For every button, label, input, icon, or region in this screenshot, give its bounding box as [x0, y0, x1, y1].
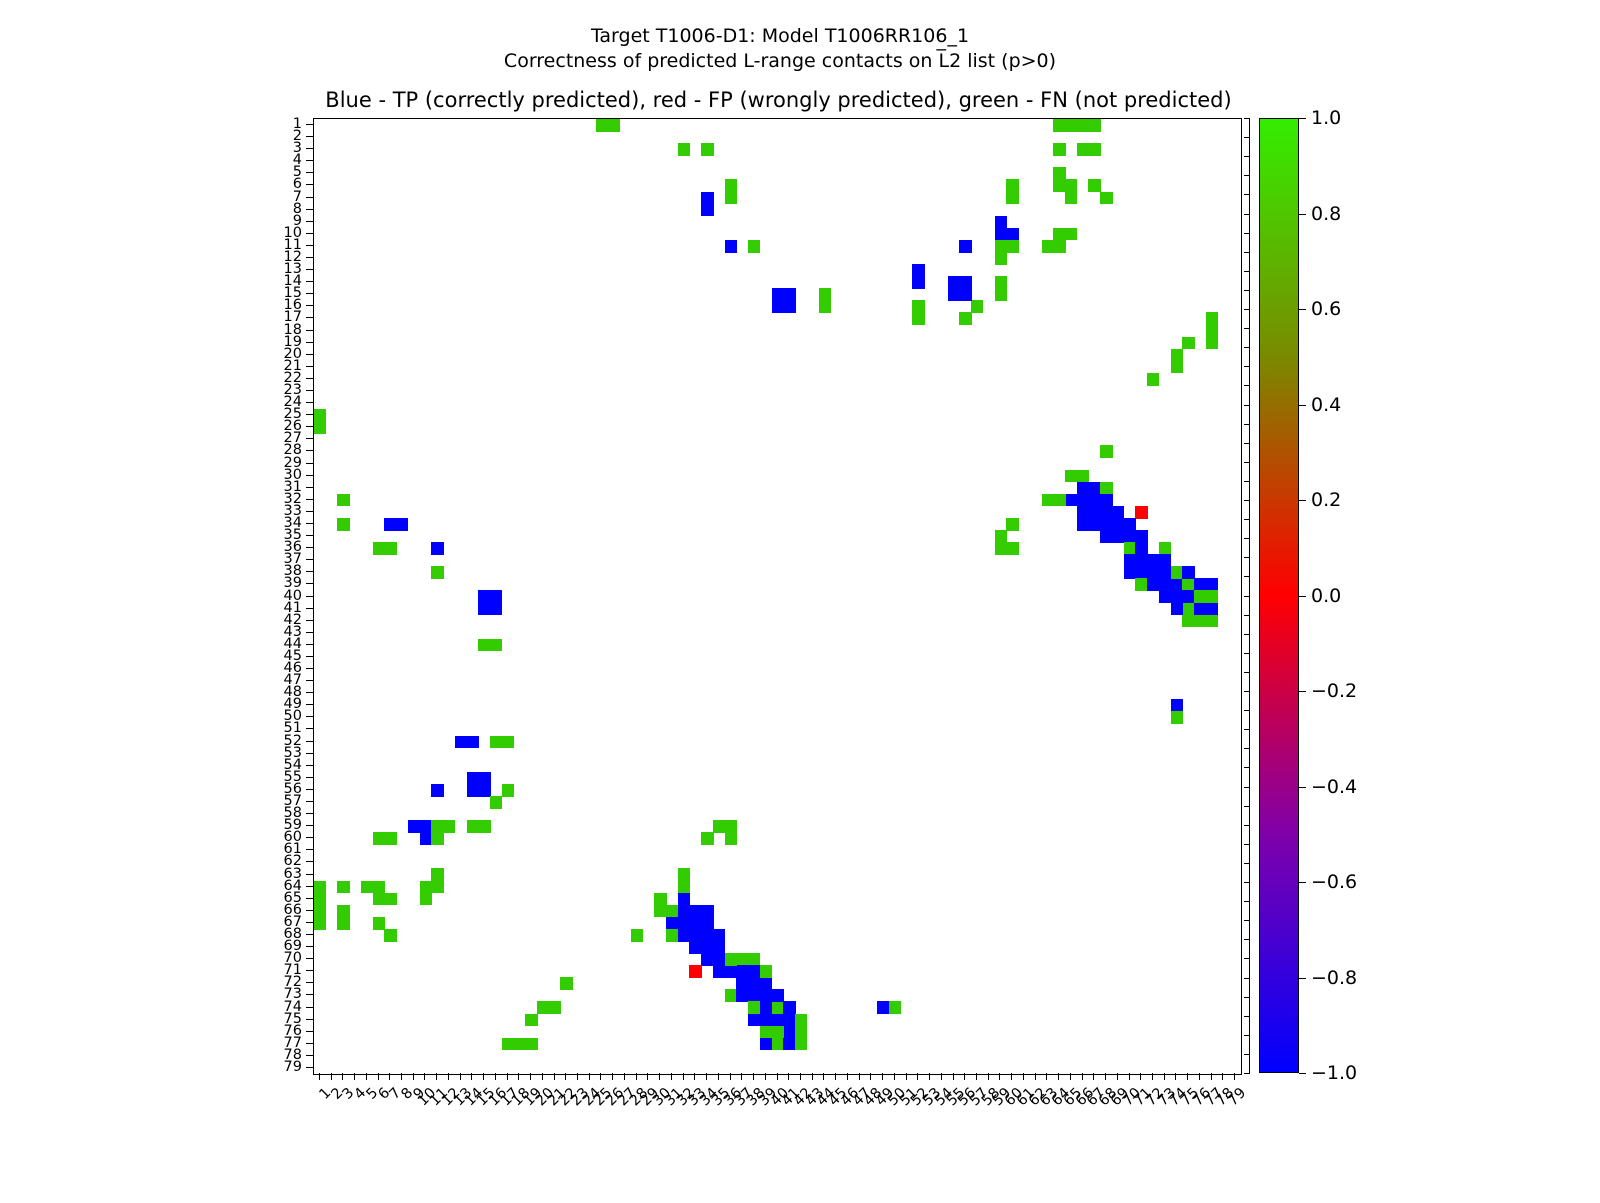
- y-axis-tick: [306, 330, 313, 331]
- heatmap-cell: [795, 1026, 807, 1039]
- y-axis-tick: [306, 596, 313, 597]
- heatmap-cell: [748, 240, 760, 253]
- y-axis-tick: [306, 813, 313, 814]
- colorbar-tick: [1299, 214, 1306, 215]
- heatmap-cell: [1194, 615, 1206, 628]
- heatmap-cell: [1100, 482, 1112, 495]
- x-axis-tick: [917, 1073, 918, 1080]
- colorbar-minor-tick: [1244, 175, 1250, 176]
- heatmap-cell: [631, 929, 643, 942]
- heatmap-cell: [1206, 312, 1218, 325]
- colorbar-tick: [1299, 978, 1306, 979]
- heatmap-cell: [1006, 228, 1018, 241]
- colorbar-tick: [1299, 691, 1306, 692]
- colorbar-tick: [1299, 405, 1306, 406]
- heatmap-cell: [748, 953, 760, 966]
- heatmap-cell: [948, 288, 960, 301]
- heatmap-cell: [314, 409, 326, 422]
- heatmap-cell: [678, 893, 690, 906]
- y-axis-tick: [306, 704, 313, 705]
- colorbar-minor-tick: [1244, 214, 1250, 215]
- y-axis-tick: [306, 390, 313, 391]
- heatmap-cell: [478, 603, 490, 616]
- x-axis-tick: [1187, 1073, 1188, 1080]
- colorbar-tick-label: −0.2: [1311, 680, 1357, 702]
- x-axis-tick: [366, 1073, 367, 1080]
- heatmap-cell: [1065, 228, 1077, 241]
- x-axis-tick: [565, 1073, 566, 1080]
- heatmap-cell: [654, 893, 666, 906]
- heatmap-cell: [995, 240, 1007, 253]
- heatmap-cell: [748, 965, 760, 978]
- heatmap-cell: [1182, 578, 1194, 591]
- x-axis-tick: [389, 1073, 390, 1080]
- heatmap-cell: [701, 929, 713, 942]
- y-axis-tick: [306, 523, 313, 524]
- y-axis-tick: [306, 692, 313, 693]
- heatmap-cell: [689, 929, 701, 942]
- y-axis-tick: [306, 378, 313, 379]
- heatmap-cell: [713, 929, 725, 942]
- x-axis-tick: [1164, 1073, 1165, 1080]
- x-axis-tick: [976, 1073, 977, 1080]
- contact-map-plot[interactable]: [313, 118, 1242, 1075]
- y-axis-tick: [306, 559, 313, 560]
- y-axis-tick: [306, 547, 313, 548]
- heatmap-cell: [1135, 530, 1147, 543]
- heatmap-cell: [995, 276, 1007, 289]
- colorbar-minor-tick: [1244, 118, 1250, 119]
- y-axis-tick: [306, 197, 313, 198]
- heatmap-cell: [467, 736, 479, 749]
- x-axis-tick: [460, 1073, 461, 1080]
- heatmap-cell: [420, 893, 432, 906]
- heatmap-cell: [478, 820, 490, 833]
- y-axis: 1234567891011121314151617181920212223242…: [0, 118, 313, 1073]
- heatmap-cell: [1194, 603, 1206, 616]
- x-axis-tick: [671, 1073, 672, 1080]
- heatmap-cell: [959, 240, 971, 253]
- heatmap-cell: [1042, 240, 1054, 253]
- colorbar-tick-label: 1.0: [1311, 107, 1341, 129]
- heatmap-cell: [666, 905, 678, 918]
- x-axis-tick: [753, 1073, 754, 1080]
- heatmap-cell: [912, 276, 924, 289]
- heatmap-cell: [431, 881, 443, 894]
- heatmap-cell: [971, 300, 983, 313]
- y-axis-tick: [306, 1019, 313, 1020]
- heatmap-cell: [420, 832, 432, 845]
- colorbar-minor-tick: [1244, 882, 1250, 883]
- x-axis-tick: [448, 1073, 449, 1080]
- heatmap-cell: [420, 820, 432, 833]
- x-axis-tick: [1140, 1073, 1141, 1080]
- colorbar-minor-axis: [1249, 118, 1250, 1073]
- suptitle-line-2: Correctness of predicted L-range contact…: [0, 49, 1560, 74]
- x-axis-tick: [1222, 1073, 1223, 1080]
- heatmap-cell: [689, 917, 701, 930]
- colorbar-minor-tick: [1244, 596, 1250, 597]
- heatmap-cell: [678, 929, 690, 942]
- heatmap-cell: [408, 820, 420, 833]
- y-axis-tick: [306, 789, 313, 790]
- heatmap-cell: [596, 119, 608, 132]
- colorbar-tick-label: −1.0: [1311, 1062, 1357, 1084]
- heatmap-cell: [736, 965, 748, 978]
- x-axis-tick: [1093, 1073, 1094, 1080]
- heatmap-cell: [1135, 566, 1147, 579]
- heatmap-cell: [889, 1001, 901, 1014]
- colorbar-minor-tick: [1244, 500, 1250, 501]
- heatmap-cell: [431, 542, 443, 555]
- heatmap-cell: [467, 772, 479, 785]
- colorbar-minor-tick: [1244, 863, 1250, 864]
- y-axis-tick: [306, 342, 313, 343]
- y-axis-tick: [306, 1067, 313, 1068]
- heatmap-cell: [725, 832, 737, 845]
- x-axis-tick: [835, 1073, 836, 1080]
- colorbar-tick: [1299, 500, 1306, 501]
- colorbar-gradient: [1260, 119, 1298, 1072]
- heatmap-cell: [1135, 578, 1147, 591]
- heatmap-cell: [725, 179, 737, 192]
- heatmap-cell: [1077, 494, 1089, 507]
- heatmap-cell: [1077, 506, 1089, 519]
- x-axis-tick: [894, 1073, 895, 1080]
- colorbar-tick: [1299, 118, 1306, 119]
- heatmap-cell: [678, 143, 690, 156]
- y-axis-tick: [306, 898, 313, 899]
- colorbar-minor-tick: [1244, 1054, 1250, 1055]
- x-axis-tick: [518, 1073, 519, 1080]
- y-axis-tick: [306, 475, 313, 476]
- y-axis-tick: [306, 874, 313, 875]
- heatmap-cell: [772, 300, 784, 313]
- colorbar-minor-tick: [1244, 1016, 1250, 1017]
- heatmap-cell: [736, 977, 748, 990]
- heatmap-cell: [1206, 615, 1218, 628]
- heatmap-cell: [783, 1014, 795, 1027]
- x-axis-tick: [1175, 1073, 1176, 1080]
- y-axis-tick: [306, 922, 313, 923]
- heatmap-cell: [502, 784, 514, 797]
- x-axis-tick: [1105, 1073, 1106, 1080]
- y-axis-tick: [306, 741, 313, 742]
- y-axis-tick: [306, 463, 313, 464]
- x-axis-tick: [319, 1073, 320, 1080]
- x-axis-tick: [1152, 1073, 1153, 1080]
- x-axis-tick: [659, 1073, 660, 1080]
- heatmap-cell: [1077, 119, 1089, 132]
- y-axis-tick: [306, 317, 313, 318]
- heatmap-cell: [772, 1026, 784, 1039]
- x-axis-tick: [683, 1073, 684, 1080]
- y-axis-tick: [306, 402, 313, 403]
- y-axis-tick: [306, 765, 313, 766]
- heatmap-cell: [760, 977, 772, 990]
- heatmap-cell: [1088, 506, 1100, 519]
- heatmap-cell: [1053, 228, 1065, 241]
- heatmap-cell: [748, 1001, 760, 1014]
- heatmap-cell: [760, 989, 772, 1002]
- colorbar-minor-tick: [1244, 156, 1250, 157]
- y-axis-tick: [306, 1031, 313, 1032]
- x-axis-tick: [1211, 1073, 1212, 1080]
- heatmap-cell: [490, 736, 502, 749]
- x-axis-tick: [988, 1073, 989, 1080]
- x-axis-tick: [507, 1073, 508, 1080]
- x-axis-tick: [624, 1073, 625, 1080]
- colorbar-minor-tick: [1244, 576, 1250, 577]
- heatmap-cell: [1124, 542, 1136, 555]
- heatmap-cell: [1065, 119, 1077, 132]
- x-axis-tick: [436, 1073, 437, 1080]
- heatmap-cell: [361, 881, 373, 894]
- colorbar[interactable]: 1.00.80.60.40.20.0−0.2−0.4−0.6−0.8−1.0: [1259, 118, 1299, 1073]
- heatmap-cell: [1147, 373, 1159, 386]
- y-axis-tick: [306, 172, 313, 173]
- y-axis-tick: [306, 354, 313, 355]
- heatmap-cell: [1159, 590, 1171, 603]
- y-axis-tick: [306, 994, 313, 995]
- colorbar-minor-tick: [1244, 920, 1250, 921]
- heatmap-cell: [713, 941, 725, 954]
- x-axis-tick: [1199, 1073, 1200, 1080]
- y-axis-tick: [306, 293, 313, 294]
- colorbar-minor-tick: [1244, 557, 1250, 558]
- heatmap-cell: [314, 421, 326, 434]
- y-axis-tick: [306, 934, 313, 935]
- colorbar-minor-tick: [1244, 748, 1250, 749]
- heatmap-cell: [1006, 192, 1018, 205]
- y-axis-tick: [306, 535, 313, 536]
- heatmap-cell: [678, 905, 690, 918]
- x-axis-tick: [1058, 1073, 1059, 1080]
- heatmap-cell: [760, 1014, 772, 1027]
- heatmap-cell: [314, 893, 326, 906]
- heatmap-cell: [783, 1038, 795, 1051]
- heatmap-cell-layer: [314, 119, 1241, 1074]
- heatmap-cell: [1065, 192, 1077, 205]
- colorbar-tick: [1299, 1073, 1306, 1074]
- heatmap-cell: [995, 288, 1007, 301]
- heatmap-cell: [795, 1014, 807, 1027]
- colorbar-minor-tick: [1244, 309, 1250, 310]
- y-axis-tick: [306, 160, 313, 161]
- x-axis-tick: [577, 1073, 578, 1080]
- heatmap-cell: [1065, 494, 1077, 507]
- y-axis-tick: [306, 583, 313, 584]
- colorbar-minor-tick: [1244, 806, 1250, 807]
- heatmap-cell: [760, 1038, 772, 1051]
- heatmap-cell: [1135, 554, 1147, 567]
- x-axis-tick: [694, 1073, 695, 1080]
- heatmap-cell: [1171, 566, 1183, 579]
- heatmap-cell: [1112, 518, 1124, 531]
- heatmap-cell: [502, 1038, 514, 1051]
- x-axis-tick: [941, 1073, 942, 1080]
- x-axis: 1234567891011121314151617181920212223242…: [313, 1073, 1240, 1203]
- heatmap-cell: [748, 1014, 760, 1027]
- heatmap-cell: [1065, 470, 1077, 483]
- x-axis-tick: [589, 1073, 590, 1080]
- y-axis-tick: [306, 801, 313, 802]
- y-axis-tick: [306, 668, 313, 669]
- heatmap-cell: [689, 941, 701, 954]
- y-axis-tick: [306, 233, 313, 234]
- heatmap-cell: [1100, 445, 1112, 458]
- colorbar-minor-tick: [1244, 271, 1250, 272]
- y-axis-tick: [306, 269, 313, 270]
- y-axis-tick: [306, 946, 313, 947]
- heatmap-cell: [1159, 542, 1171, 555]
- colorbar-tick-label: 0.6: [1311, 298, 1341, 320]
- y-axis-tick: [306, 753, 313, 754]
- x-axis-tick: [342, 1073, 343, 1080]
- heatmap-cell: [502, 736, 514, 749]
- heatmap-cell: [373, 917, 385, 930]
- heatmap-cell: [1135, 506, 1147, 519]
- heatmap-cell: [1006, 179, 1018, 192]
- heatmap-cell: [1077, 143, 1089, 156]
- heatmap-cell: [772, 288, 784, 301]
- heatmap-cell: [373, 893, 385, 906]
- heatmap-cell: [1053, 494, 1065, 507]
- x-axis-tick: [964, 1073, 965, 1080]
- heatmap-cell: [384, 542, 396, 555]
- x-axis-tick: [483, 1073, 484, 1080]
- heatmap-cell: [337, 518, 349, 531]
- y-axis-tick: [306, 716, 313, 717]
- heatmap-cell: [725, 965, 737, 978]
- heatmap-cell: [384, 832, 396, 845]
- heatmap-cell: [748, 989, 760, 1002]
- colorbar-minor-tick: [1244, 844, 1250, 845]
- heatmap-cell: [1065, 179, 1077, 192]
- heatmap-cell: [995, 542, 1007, 555]
- heatmap-cell: [396, 518, 408, 531]
- y-axis-tick: [306, 136, 313, 137]
- heatmap-cell: [783, 1026, 795, 1039]
- heatmap-cell: [513, 1038, 525, 1051]
- heatmap-cell: [467, 820, 479, 833]
- y-axis-tick: [306, 608, 313, 609]
- y-axis-tick: [306, 958, 313, 959]
- y-axis-tick: [306, 644, 313, 645]
- heatmap-cell: [1006, 518, 1018, 531]
- x-axis-tick: [765, 1073, 766, 1080]
- heatmap-cell: [760, 1026, 772, 1039]
- y-axis-tick: [306, 148, 313, 149]
- colorbar-minor-tick: [1244, 424, 1250, 425]
- heatmap-cell: [995, 252, 1007, 265]
- x-axis-tick: [859, 1073, 860, 1080]
- colorbar-tick-label: 0.4: [1311, 394, 1341, 416]
- y-axis-tick: [306, 849, 313, 850]
- heatmap-cell: [995, 216, 1007, 229]
- heatmap-cell: [537, 1001, 549, 1014]
- x-axis-tick: [706, 1073, 707, 1080]
- x-axis-tick: [1082, 1073, 1083, 1080]
- colorbar-minor-tick: [1244, 901, 1250, 902]
- heatmap-cell: [666, 917, 678, 930]
- heatmap-cell: [1088, 179, 1100, 192]
- heatmap-cell: [1159, 566, 1171, 579]
- colorbar-tick: [1299, 309, 1306, 310]
- x-axis-tick: [600, 1073, 601, 1080]
- suptitle-line-1: Target T1006-D1: Model T1006RR106_1: [0, 24, 1560, 49]
- heatmap-cell: [1112, 506, 1124, 519]
- colorbar-tick: [1299, 882, 1306, 883]
- y-axis-tick: [306, 1055, 313, 1056]
- x-axis-tick: [823, 1073, 824, 1080]
- heatmap-cell: [455, 736, 467, 749]
- colorbar-minor-tick: [1244, 653, 1250, 654]
- heatmap-cell: [654, 905, 666, 918]
- heatmap-cell: [1112, 530, 1124, 543]
- x-axis-tick: [788, 1073, 789, 1080]
- heatmap-cell: [490, 603, 502, 616]
- heatmap-cell: [819, 288, 831, 301]
- heatmap-cell: [1171, 590, 1183, 603]
- heatmap-cell: [689, 905, 701, 918]
- y-axis-tick: [306, 438, 313, 439]
- colorbar-minor-tick: [1244, 767, 1250, 768]
- y-axis-tick: [306, 511, 313, 512]
- y-axis-tick: [306, 837, 313, 838]
- heatmap-cell: [1124, 554, 1136, 567]
- heatmap-cell: [1053, 240, 1065, 253]
- x-axis-tick: [542, 1073, 543, 1080]
- heatmap-cell: [1206, 337, 1218, 350]
- heatmap-cell: [384, 893, 396, 906]
- colorbar-tick-label: −0.6: [1311, 871, 1357, 893]
- colorbar-minor-tick: [1244, 958, 1250, 959]
- heatmap-cell: [1194, 578, 1206, 591]
- heatmap-cell: [1077, 482, 1089, 495]
- colorbar-minor-tick: [1244, 1073, 1250, 1074]
- heatmap-cell: [1147, 578, 1159, 591]
- heatmap-cell: [1182, 615, 1194, 628]
- x-axis-tick: [870, 1073, 871, 1080]
- colorbar-minor-tick: [1244, 672, 1250, 673]
- heatmap-cell: [912, 300, 924, 313]
- x-axis-tick: [882, 1073, 883, 1080]
- colorbar-minor-tick: [1244, 615, 1250, 616]
- heatmap-cell: [314, 905, 326, 918]
- heatmap-cell: [373, 881, 385, 894]
- y-axis-tick: [306, 221, 313, 222]
- heatmap-cell: [1088, 482, 1100, 495]
- heatmap-cell: [1088, 518, 1100, 531]
- heatmap-cell: [1088, 143, 1100, 156]
- y-axis-tick: [306, 728, 313, 729]
- heatmap-cell: [725, 953, 737, 966]
- y-axis-tick: [306, 620, 313, 621]
- colorbar-minor-tick: [1244, 137, 1250, 138]
- heatmap-cell: [701, 941, 713, 954]
- heatmap-cell: [948, 276, 960, 289]
- y-axis-tick: [306, 414, 313, 415]
- colorbar-minor-tick: [1244, 634, 1250, 635]
- colorbar-minor-tick: [1244, 978, 1250, 979]
- y-axis-tick: [306, 982, 313, 983]
- heatmap-cell: [1171, 699, 1183, 712]
- heatmap-cell: [1077, 518, 1089, 531]
- heatmap-cell: [1206, 603, 1218, 616]
- heatmap-cell: [713, 820, 725, 833]
- colorbar-minor-tick: [1244, 787, 1250, 788]
